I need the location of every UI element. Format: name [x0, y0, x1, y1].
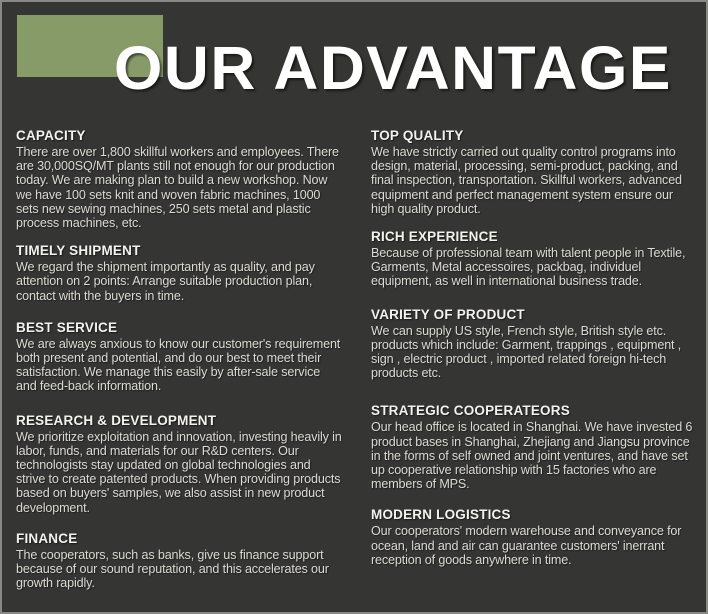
section-variety-of-product: VARIETY OF PRODUCT We can supply US styl… [371, 307, 698, 381]
section-title-timely-shipment: TIMELY SHIPMENT [16, 243, 343, 259]
section-body-finance: The cooperators, such as banks, give us … [16, 548, 343, 591]
section-best-service: BEST SERVICE We are always anxious to kn… [16, 320, 343, 394]
section-timely-shipment: TIMELY SHIPMENT We regard the shipment i… [16, 243, 343, 303]
left-column: CAPACITY There are over 1,800 skillful w… [16, 128, 357, 590]
section-body-best-service: We are always anxious to know our custom… [16, 337, 343, 394]
section-body-top-quality: We have strictly carried out quality con… [371, 145, 698, 216]
section-body-variety-of-product: We can supply US style, French style, Br… [371, 324, 698, 381]
section-title-rich-experience: RICH EXPERIENCE [371, 229, 698, 245]
section-modern-logistics: MODERN LOGISTICS Our cooperators' modern… [371, 507, 698, 567]
section-title-modern-logistics: MODERN LOGISTICS [371, 507, 698, 523]
section-title-research-development: RESEARCH & DEVELOPMENT [16, 413, 343, 429]
content-columns: CAPACITY There are over 1,800 skillful w… [2, 128, 706, 590]
advantage-poster: OUR ADVANTAGE CAPACITY There are over 1,… [0, 0, 708, 614]
section-body-modern-logistics: Our cooperators' modern warehouse and co… [371, 524, 698, 567]
poster-header: OUR ADVANTAGE [2, 2, 706, 120]
section-title-top-quality: TOP QUALITY [371, 128, 698, 144]
section-title-capacity: CAPACITY [16, 128, 343, 144]
section-title-best-service: BEST SERVICE [16, 320, 343, 336]
section-strategic-cooperateors: STRATEGIC COOPERATEORS Our head office i… [371, 403, 698, 491]
section-body-timely-shipment: We regard the shipment importantly as qu… [16, 260, 343, 303]
page-title: OUR ADVANTAGE [114, 38, 672, 99]
section-body-capacity: There are over 1,800 skillful workers an… [16, 145, 343, 230]
section-body-strategic-cooperateors: Our head office is located in Shanghai. … [371, 420, 698, 491]
section-finance: FINANCE The cooperators, such as banks, … [16, 531, 343, 591]
section-title-variety-of-product: VARIETY OF PRODUCT [371, 307, 698, 323]
section-body-rich-experience: Because of professional team with talent… [371, 246, 698, 289]
section-body-research-development: We prioritize exploitation and innovatio… [16, 430, 343, 515]
section-research-development: RESEARCH & DEVELOPMENT We prioritize exp… [16, 413, 343, 515]
section-capacity: CAPACITY There are over 1,800 skillful w… [16, 128, 343, 230]
section-top-quality: TOP QUALITY We have strictly carried out… [371, 128, 698, 216]
section-title-strategic-cooperateors: STRATEGIC COOPERATEORS [371, 403, 698, 419]
right-column: TOP QUALITY We have strictly carried out… [357, 128, 698, 590]
section-rich-experience: RICH EXPERIENCE Because of professional … [371, 229, 698, 289]
section-title-finance: FINANCE [16, 531, 343, 547]
